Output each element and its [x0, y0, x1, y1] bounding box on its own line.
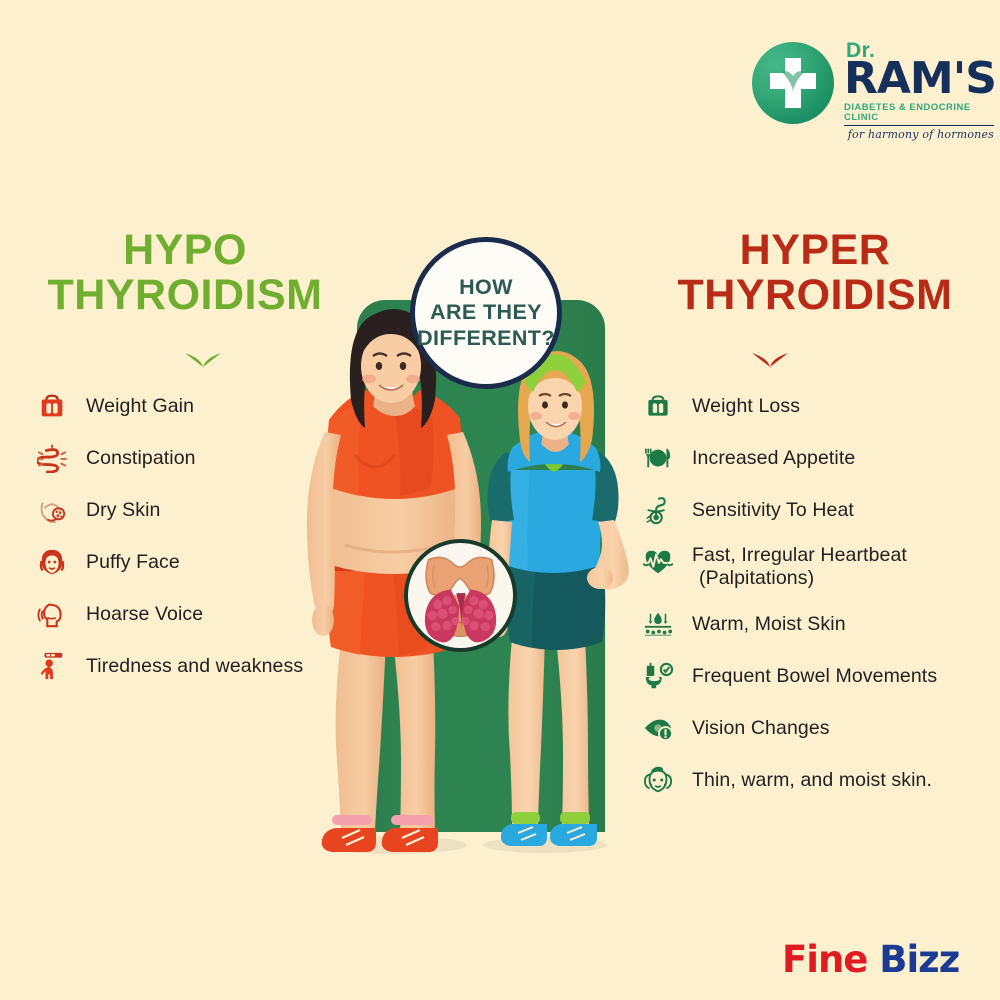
logo-tagline: for harmony of hormones [844, 128, 994, 141]
list-item-label: Increased Appetite [692, 436, 855, 470]
hypo-title-line-1: HYPO [10, 228, 360, 273]
list-item: Dry Skin [30, 488, 360, 540]
list-item-label-line-2: (Palpitations) [692, 567, 814, 590]
list-item: Increased Appetite [636, 436, 996, 488]
list-item: Fast, Irregular Heartbeat (Palpitations) [636, 540, 996, 602]
list-item: Hoarse Voice [30, 592, 360, 644]
logo-wordmark: Dr. RAM'S DIABETES & ENDOCRINE CLINIC fo… [844, 40, 994, 141]
hypo-title-line-2: THYROIDISM [10, 273, 360, 318]
list-item: Thin, warm, and moist skin. [636, 758, 996, 810]
bubble-line-2: ARE THEY [417, 300, 555, 325]
dr-rams-clinic-logo[interactable]: Dr. RAM'S DIABETES & ENDOCRINE CLINIC fo… [752, 40, 992, 140]
weight-scale-icon [636, 384, 680, 428]
list-item-label: Constipation [86, 436, 196, 470]
puffy-face-icon [30, 540, 74, 584]
list-item: Puffy Face [30, 540, 360, 592]
list-item-label: Vision Changes [692, 706, 830, 740]
list-item-label: Thin, warm, and moist skin. [692, 758, 932, 792]
watermark-part-1: Fine [782, 938, 867, 981]
tired-person-icon [30, 644, 74, 688]
list-item-label: Fast, Irregular Heartbeat (Palpitations) [692, 540, 907, 590]
toilet-icon [636, 654, 680, 698]
how-are-they-different-bubble: HOW ARE THEY DIFFERENT? [410, 237, 562, 389]
hyperthyroidism-symptom-list: Weight Loss Increased Appetite [636, 384, 996, 810]
infographic-canvas: HOW ARE THEY DIFFERENT? Dr. RAM'S DIABET… [0, 0, 1000, 1000]
plate-cutlery-icon [636, 436, 680, 480]
list-item: Weight Loss [636, 384, 996, 436]
list-item-label: Sensitivity To Heat [692, 488, 854, 522]
face-mask-icon [636, 758, 680, 802]
heartbeat-icon [636, 540, 680, 584]
thyroid-gland-icon [404, 539, 517, 652]
list-item: Vision Changes [636, 706, 996, 758]
hoarse-voice-icon [30, 592, 74, 636]
bubble-text: HOW ARE THEY DIFFERENT? [417, 275, 555, 351]
eye-alert-icon [636, 706, 680, 750]
list-item: Sensitivity To Heat [636, 488, 996, 540]
list-item-label: Puffy Face [86, 540, 180, 574]
hypothyroidism-title: HYPO THYROIDISM [10, 228, 360, 317]
list-item-label: Weight Loss [692, 384, 800, 418]
dry-skin-face-icon [30, 488, 74, 532]
list-item: Weight Gain [30, 384, 360, 436]
intestine-icon [30, 436, 74, 480]
list-item-label: Warm, Moist Skin [692, 602, 846, 636]
list-item-label-line-1: Fast, Irregular Heartbeat [692, 544, 907, 566]
list-item-label: Dry Skin [86, 488, 160, 522]
list-item: Constipation [30, 436, 360, 488]
hyper-title-line-1: HYPER [640, 228, 990, 273]
weight-scale-icon [30, 384, 74, 428]
hyper-title-line-2: THYROIDISM [640, 273, 990, 318]
list-item-label: Hoarse Voice [86, 592, 203, 626]
list-item-label: Frequent Bowel Movements [692, 654, 937, 688]
list-item-label: Weight Gain [86, 384, 194, 418]
watermark-part-2: Bizz [879, 938, 959, 981]
chevron-down-icon [750, 350, 790, 372]
moist-skin-icon [636, 602, 680, 646]
hyperthyroidism-title: HYPER THYROIDISM [640, 228, 990, 317]
list-item-label: Tiredness and weakness [86, 644, 303, 678]
list-item: Tiredness and weakness [30, 644, 360, 696]
chevron-down-icon [183, 350, 223, 372]
finebizz-watermark[interactable]: Fine Bizz [782, 938, 959, 981]
thermometer-icon [636, 488, 680, 532]
list-item: Warm, Moist Skin [636, 602, 996, 654]
list-item: Frequent Bowel Movements [636, 654, 996, 706]
logo-divider [844, 125, 994, 126]
hypothyroidism-symptom-list: Weight Gain Constipation [30, 384, 360, 696]
bubble-line-1: HOW [417, 275, 555, 300]
logo-brand: RAM'S [844, 59, 994, 99]
medical-cross-icon [752, 42, 834, 124]
bubble-line-3: DIFFERENT? [417, 326, 555, 351]
logo-subtitle: DIABETES & ENDOCRINE CLINIC [844, 102, 994, 121]
